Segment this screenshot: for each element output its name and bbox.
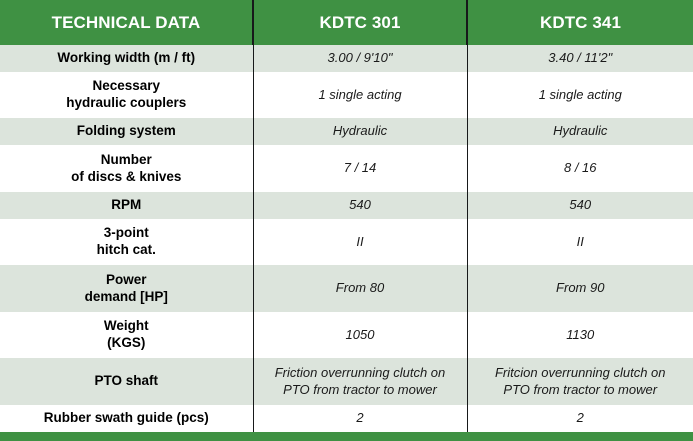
text-line: Fritcion overrunning clutch on bbox=[476, 365, 686, 382]
table-row: Numberof discs & knives7 / 148 / 16 bbox=[0, 145, 693, 192]
text-line: PTO from tractor to mower bbox=[476, 382, 686, 399]
text-line: 8 / 16 bbox=[476, 160, 686, 177]
text-line: 2 bbox=[262, 410, 459, 427]
text-line: 1050 bbox=[262, 327, 459, 344]
text-line: hydraulic couplers bbox=[8, 95, 245, 112]
row-value-cell-2: 540 bbox=[467, 192, 693, 219]
row-value-cell-1: 1 single acting bbox=[253, 72, 467, 119]
table-row: Powerdemand [HP]From 80From 90 bbox=[0, 265, 693, 312]
row-label-cell: 3-pointhitch cat. bbox=[0, 219, 253, 266]
table-row: Working width (m / ft)3.00 / 9'10"3.40 /… bbox=[0, 45, 693, 72]
text-line: Folding system bbox=[8, 123, 245, 140]
row-value-cell-1: 1050 bbox=[253, 312, 467, 359]
row-label-cell: Working width (m / ft) bbox=[0, 45, 253, 72]
text-line: Hydraulic bbox=[262, 123, 459, 140]
row-label-cell: Powerdemand [HP] bbox=[0, 265, 253, 312]
row-label-cell: Folding system bbox=[0, 118, 253, 145]
text-line: 2 bbox=[476, 410, 686, 427]
text-line: 1 single acting bbox=[262, 87, 459, 104]
row-value-cell-2: 8 / 16 bbox=[467, 145, 693, 192]
text-line: Hydraulic bbox=[476, 123, 686, 140]
row-value-cell-2: Fritcion overrunning clutch onPTO from t… bbox=[467, 358, 693, 405]
row-value-cell-1: 2 bbox=[253, 405, 467, 432]
text-line: II bbox=[262, 234, 459, 251]
footer-green-bar bbox=[0, 432, 693, 441]
row-value-cell-1: From 80 bbox=[253, 265, 467, 312]
text-line: PTO shaft bbox=[8, 373, 245, 390]
text-line: 3.00 / 9'10" bbox=[262, 50, 459, 67]
text-line: Working width (m / ft) bbox=[8, 50, 245, 67]
row-label-cell: Rubber swath guide (pcs) bbox=[0, 405, 253, 432]
row-value-cell-1: 7 / 14 bbox=[253, 145, 467, 192]
row-value-cell-2: 3.40 / 11'2" bbox=[467, 45, 693, 72]
text-line: hitch cat. bbox=[8, 242, 245, 259]
text-line: 3-point bbox=[8, 225, 245, 242]
text-line: 7 / 14 bbox=[262, 160, 459, 177]
row-label-cell: Numberof discs & knives bbox=[0, 145, 253, 192]
text-line: Weight bbox=[8, 318, 245, 335]
row-label-cell: Weight(KGS) bbox=[0, 312, 253, 359]
header-cell-model-2: KDTC 341 bbox=[467, 0, 693, 45]
header-cell-technical-data: TECHNICAL DATA bbox=[0, 0, 253, 45]
table-row: PTO shaftFriction overrunning clutch onP… bbox=[0, 358, 693, 405]
text-line: Power bbox=[8, 272, 245, 289]
text-line: From 90 bbox=[476, 280, 686, 297]
footer-row bbox=[0, 432, 693, 441]
row-value-cell-2: 1130 bbox=[467, 312, 693, 359]
row-value-cell-2: Hydraulic bbox=[467, 118, 693, 145]
row-value-cell-2: From 90 bbox=[467, 265, 693, 312]
header-cell-model-1: KDTC 301 bbox=[253, 0, 467, 45]
row-value-cell-1: II bbox=[253, 219, 467, 266]
text-line: Rubber swath guide (pcs) bbox=[8, 410, 245, 427]
table-row: 3-pointhitch cat.IIII bbox=[0, 219, 693, 266]
table-footer bbox=[0, 432, 693, 441]
text-line: 1130 bbox=[476, 327, 686, 344]
row-label-cell: PTO shaft bbox=[0, 358, 253, 405]
table-body: Working width (m / ft)3.00 / 9'10"3.40 /… bbox=[0, 45, 693, 432]
row-label-cell: RPM bbox=[0, 192, 253, 219]
text-line: demand [HP] bbox=[8, 289, 245, 306]
row-value-cell-2: 1 single acting bbox=[467, 72, 693, 119]
text-line: Friction overrunning clutch on bbox=[262, 365, 459, 382]
header-row: TECHNICAL DATA KDTC 301 KDTC 341 bbox=[0, 0, 693, 45]
text-line: II bbox=[476, 234, 686, 251]
text-line: From 80 bbox=[262, 280, 459, 297]
text-line: 540 bbox=[476, 197, 686, 214]
table-row: Necessaryhydraulic couplers1 single acti… bbox=[0, 72, 693, 119]
text-line: PTO from tractor to mower bbox=[262, 382, 459, 399]
text-line: 540 bbox=[262, 197, 459, 214]
row-value-cell-1: Friction overrunning clutch onPTO from t… bbox=[253, 358, 467, 405]
text-line: of discs & knives bbox=[8, 169, 245, 186]
table-row: Weight(KGS)10501130 bbox=[0, 312, 693, 359]
table-header: TECHNICAL DATA KDTC 301 KDTC 341 bbox=[0, 0, 693, 45]
row-value-cell-1: 3.00 / 9'10" bbox=[253, 45, 467, 72]
technical-data-table: TECHNICAL DATA KDTC 301 KDTC 341 Working… bbox=[0, 0, 693, 441]
table-row: RPM540540 bbox=[0, 192, 693, 219]
text-line: 1 single acting bbox=[476, 87, 686, 104]
row-value-cell-1: Hydraulic bbox=[253, 118, 467, 145]
table-row: Folding systemHydraulicHydraulic bbox=[0, 118, 693, 145]
table-row: Rubber swath guide (pcs)22 bbox=[0, 405, 693, 432]
text-line: Number bbox=[8, 152, 245, 169]
text-line: RPM bbox=[8, 197, 245, 214]
row-value-cell-1: 540 bbox=[253, 192, 467, 219]
row-label-cell: Necessaryhydraulic couplers bbox=[0, 72, 253, 119]
text-line: Necessary bbox=[8, 78, 245, 95]
row-value-cell-2: II bbox=[467, 219, 693, 266]
row-value-cell-2: 2 bbox=[467, 405, 693, 432]
text-line: (KGS) bbox=[8, 335, 245, 352]
text-line: 3.40 / 11'2" bbox=[476, 50, 686, 67]
